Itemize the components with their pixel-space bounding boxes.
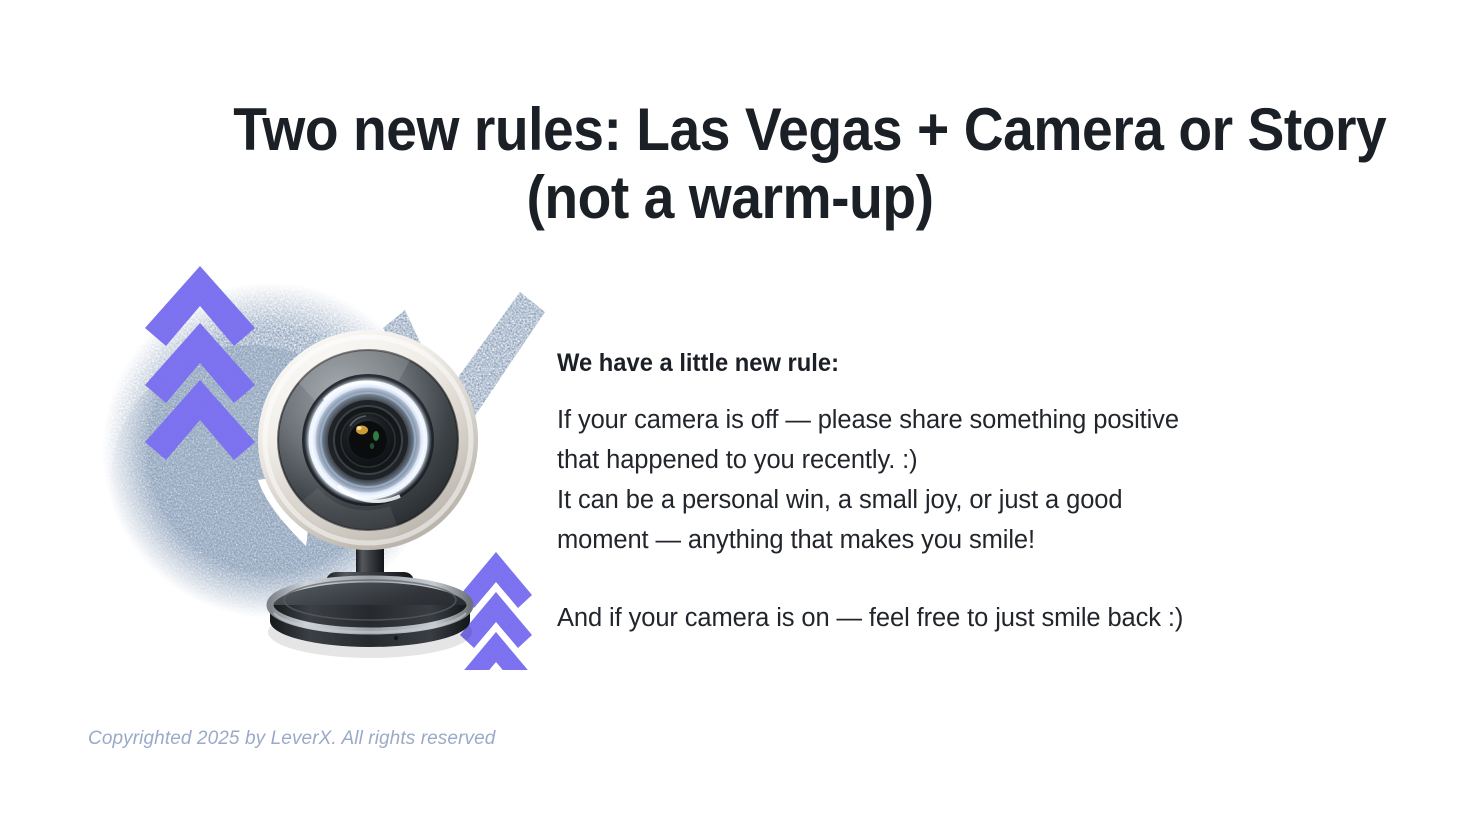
body-paragraph-1: If your camera is off — please share som… (557, 400, 1317, 560)
body-line-3: It can be a personal win, a small joy, o… (557, 486, 1122, 514)
slide-canvas: Two new rules: Las Vegas + Camera or Sto… (0, 0, 1460, 820)
page-title: Two new rules: Las Vegas + Camera or Sto… (190, 96, 1270, 232)
body-line-2: that happened to you recently. :) (557, 446, 918, 474)
copyright-footer: Copyrighted 2025 by LeverX. All rights r… (88, 726, 495, 752)
webcam-artwork (100, 250, 560, 670)
body-line-1: If your camera is off — please share som… (557, 406, 1179, 434)
title-line-1: Two new rules: Las Vegas + Camera or Sto… (233, 96, 1227, 164)
webcam-illustration (258, 330, 478, 658)
webcam-base (270, 579, 470, 647)
title-line-2: (not a warm-up) (233, 164, 1227, 232)
body-heading: We have a little new rule: (557, 348, 1279, 378)
body-text-block: We have a little new rule: If your camer… (557, 348, 1317, 638)
body-line-4: moment — anything that makes you smile! (557, 526, 1035, 554)
webcam-head (258, 330, 478, 550)
body-paragraph-2: And if your camera is on — feel free to … (557, 598, 1317, 638)
